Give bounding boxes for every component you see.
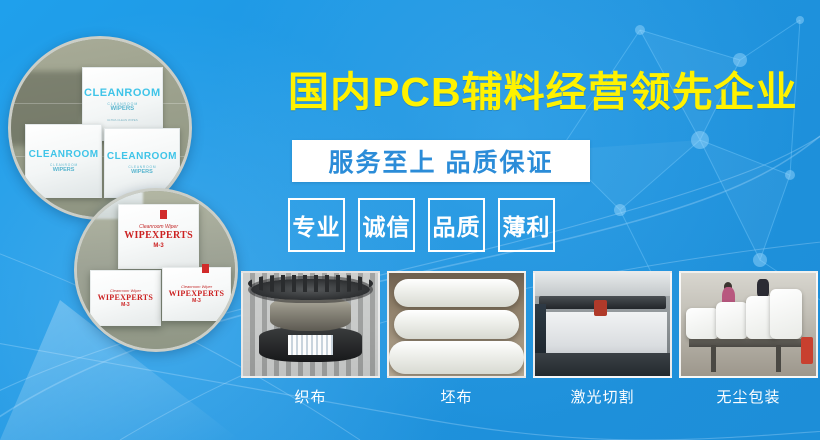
- thumbnail-item-greycloth[interactable]: 坯布: [387, 271, 526, 407]
- cleanroom-pack-line3: WIPERS: [111, 106, 135, 112]
- keyword-label: 诚信: [363, 208, 411, 242]
- keyword-box-pinzhi[interactable]: 品质: [428, 198, 485, 252]
- cleanroom-pack-line3-3: WIPERS: [131, 169, 153, 175]
- thumbnail-caption: 坯布: [387, 386, 526, 407]
- thumbnail-caption: 激光切割: [533, 386, 672, 407]
- thumbnail-image-laser-cutter[interactable]: [533, 271, 672, 378]
- slogan-text: 服务至上 品质保证: [329, 143, 554, 179]
- keyword-box-zhuanye[interactable]: 专业: [288, 198, 345, 252]
- wipexperts-mark: M-3: [153, 243, 163, 249]
- process-thumbnail-strip: 织布 坯布 激光切割: [241, 271, 818, 407]
- thumbnail-image-knitting-machine[interactable]: [241, 271, 380, 378]
- keyword-row: 专业 诚信 品质 薄利: [288, 198, 555, 252]
- cleanroom-pack-footer: ULTRA CLEAN WIPES: [107, 118, 138, 122]
- thumbnail-item-cleanpacking[interactable]: 无尘包装: [679, 271, 818, 407]
- cleanroom-pack-title: CLEANROOM: [84, 87, 161, 99]
- wipexperts-mark-3: M-3: [192, 298, 201, 304]
- wipexperts-mark-2: M-3: [121, 302, 130, 308]
- thumbnail-image-fabric-rolls[interactable]: [387, 271, 526, 378]
- wipexperts-title-3: WIPEXPERTS: [169, 289, 225, 298]
- promo-banner: CLEANROOM C L E A N R O O M WIPERS ULTRA…: [0, 0, 820, 440]
- keyword-label: 品质: [433, 208, 481, 242]
- thumbnail-item-lasercut[interactable]: 激光切割: [533, 271, 672, 407]
- banner-headline: 国内PCB辅料经营领先企业: [288, 72, 798, 113]
- keyword-label: 专业: [293, 208, 341, 242]
- keyword-box-baoli[interactable]: 薄利: [498, 198, 555, 252]
- cleanroom-pack-title-2: CLEANROOM: [29, 149, 99, 160]
- cleanroom-pack-title-3: CLEANROOM: [107, 151, 177, 162]
- thumbnail-caption: 织布: [241, 386, 380, 407]
- thumbnail-caption: 无尘包装: [679, 386, 818, 407]
- thumbnail-image-packing-room[interactable]: [679, 271, 818, 378]
- keyword-box-chengxin[interactable]: 诚信: [358, 198, 415, 252]
- cleanroom-pack-line3-2: WIPERS: [53, 167, 75, 173]
- wipexperts-title-2: WIPEXPERTS: [98, 293, 154, 302]
- product-photo-wipexperts: Cleanroom Wiper WIPEXPERTS M-3 Cleanroom…: [74, 188, 238, 352]
- slogan-box: 服务至上 品质保证: [292, 140, 590, 182]
- keyword-label: 薄利: [503, 208, 551, 242]
- thumbnail-item-weaving[interactable]: 织布: [241, 271, 380, 407]
- wipexperts-title: WIPEXPERTS: [124, 230, 193, 241]
